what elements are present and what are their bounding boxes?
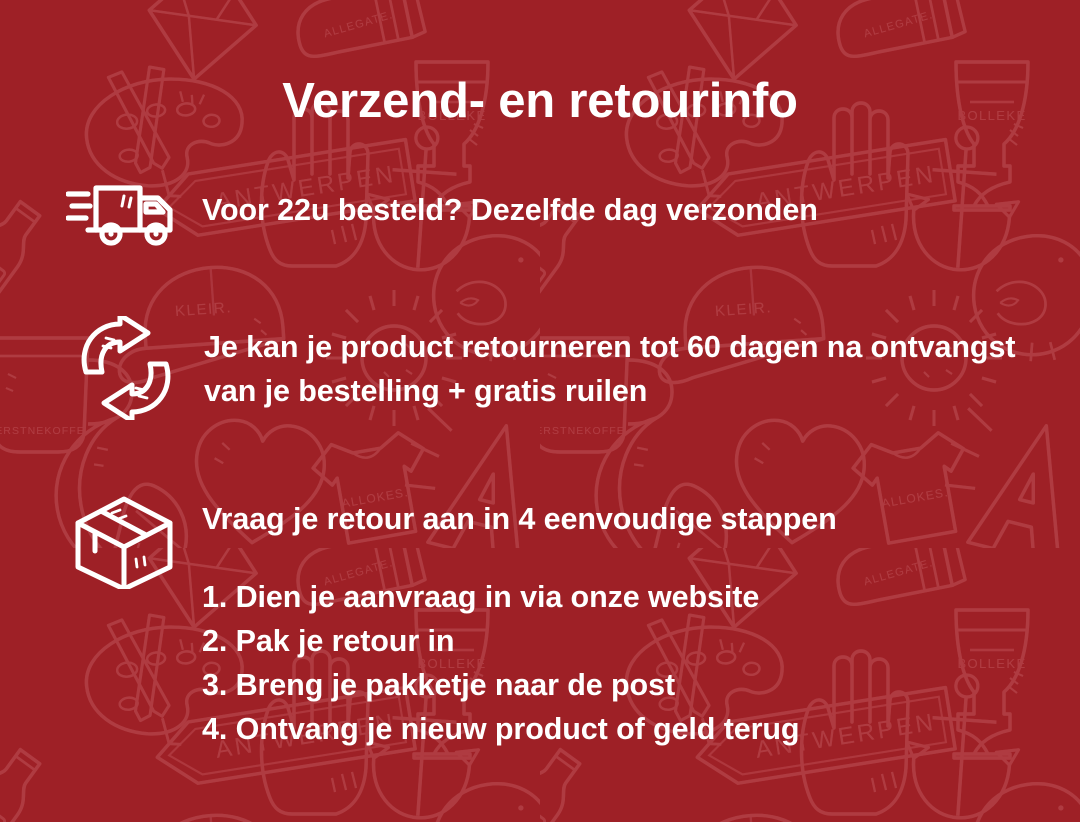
list-item: 2. Pak je retour in <box>202 619 837 663</box>
steps-list: 1. Dien je aanvraag in via onze website … <box>202 575 837 751</box>
shipping-text: Voor 22u besteld? Dezelfde dag verzonden <box>202 188 818 232</box>
list-item: 4. Ontvang je nieuw product of geld teru… <box>202 707 837 751</box>
return-exchange-arrows-icon <box>74 316 178 420</box>
page-title: Verzend- en retourinfo <box>0 71 1080 131</box>
info-row-steps: Vraag je retour aan in 4 eenvoudige stap… <box>66 489 837 751</box>
steps-heading: Vraag je retour aan in 4 eenvoudige stap… <box>202 497 837 541</box>
info-row-returns: Je kan je product retourneren tot 60 dag… <box>74 316 1016 420</box>
delivery-truck-icon <box>66 176 184 248</box>
verzend-en-retourinfo-banner: BOLLEKE ELIXIR D'ANVERS AL <box>0 0 1080 822</box>
list-item: 1. Dien je aanvraag in via onze website <box>202 575 837 619</box>
returns-text: Je kan je product retourneren tot 60 dag… <box>204 325 1016 413</box>
info-row-shipping: Voor 22u besteld? Dezelfde dag verzonden <box>66 176 818 248</box>
list-item: 3. Breng je pakketje naar de post <box>202 663 837 707</box>
package-box-icon <box>66 489 184 589</box>
steps-block: Vraag je retour aan in 4 eenvoudige stap… <box>202 489 837 751</box>
